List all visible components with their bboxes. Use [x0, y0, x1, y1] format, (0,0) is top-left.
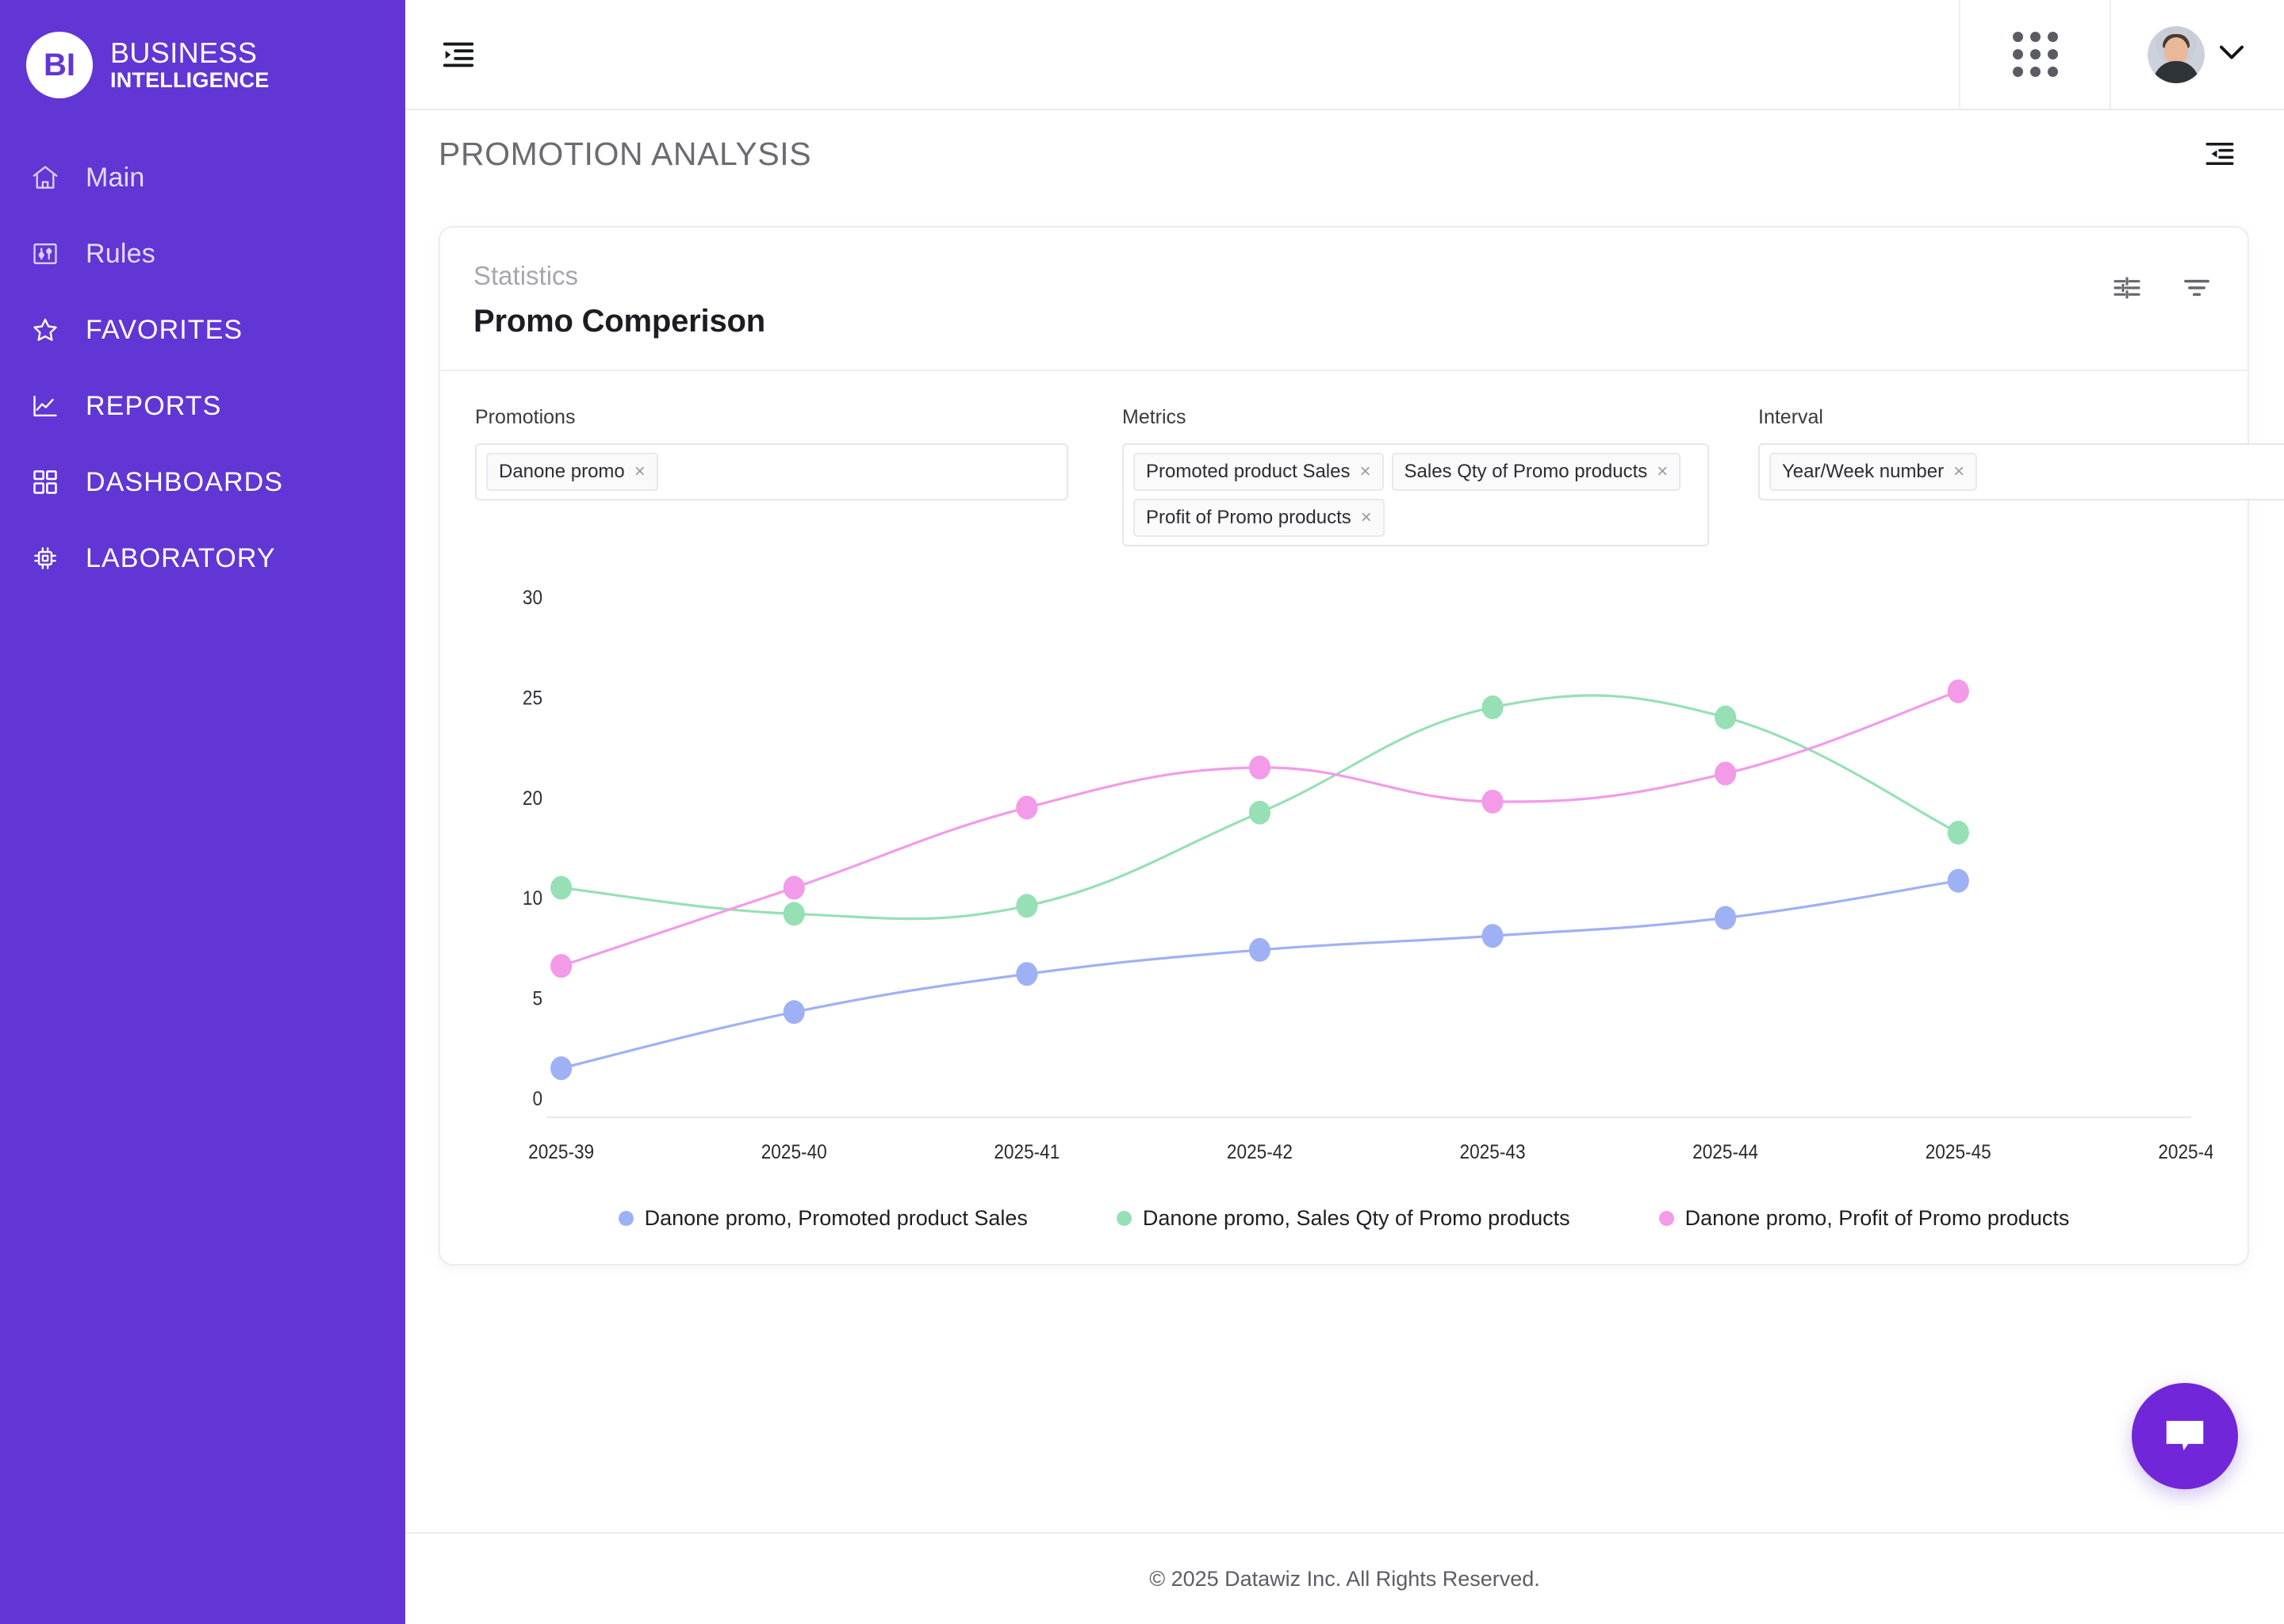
x-axis-tick: 2025-45 — [1926, 1141, 1991, 1163]
copyright-text: © 2025 Datawiz Inc. All Rights Reserved. — [1149, 1567, 1540, 1591]
page-header: PROMOTION ANALYSIS — [405, 110, 2284, 197]
sidebar-item-label: REPORTS — [86, 391, 221, 422]
legend-item[interactable]: Danone promo, Sales Qty of Promo product… — [1117, 1206, 1570, 1231]
sidebar-item-label: LABORATORY — [86, 543, 276, 574]
data-point[interactable] — [1715, 761, 1736, 785]
chip-label: Danone promo — [499, 461, 625, 483]
metrics-input[interactable]: Promoted product Sales × Sales Qty of Pr… — [1122, 443, 1709, 546]
card-header: Statistics Promo Comperison — [440, 228, 2248, 339]
filter-row: Promotions Danone promo × Metrics — [440, 371, 2248, 546]
chart-legend: Danone promo, Promoted product Sales Dan… — [475, 1206, 2213, 1231]
filter-label: Promotions — [475, 406, 1068, 429]
legend-item[interactable]: Danone promo, Profit of Promo products — [1659, 1206, 2070, 1231]
data-point[interactable] — [1481, 790, 1503, 814]
y-axis-tick: 25 — [523, 687, 542, 709]
data-point[interactable] — [1249, 938, 1270, 962]
chip[interactable]: Profit of Promo products × — [1133, 499, 1385, 537]
sidebar-item-rules[interactable]: Rules — [0, 216, 405, 292]
data-point[interactable] — [784, 902, 805, 925]
data-point[interactable] — [1016, 962, 1037, 986]
data-point[interactable] — [550, 1056, 572, 1080]
series-line — [561, 691, 1959, 966]
promotions-input[interactable]: Danone promo × — [475, 443, 1068, 500]
data-point[interactable] — [1249, 756, 1270, 779]
sidebar-nav: Main Rules FAVORITES REPORTS — [0, 140, 405, 596]
sidebar-item-favorites[interactable]: FAVORITES — [0, 292, 405, 368]
chat-bubble-glyph — [2160, 1411, 2209, 1461]
data-point[interactable] — [1948, 821, 1969, 845]
card-title: Promo Comperison — [473, 304, 765, 339]
brand-badge: BI — [26, 32, 93, 98]
chip[interactable]: Sales Qty of Promo products × — [1392, 453, 1681, 491]
chart-container: 05102025302025-392025-402025-412025-4220… — [440, 546, 2248, 1231]
close-icon[interactable]: × — [1953, 462, 1964, 481]
line-chart[interactable]: 05102025302025-392025-402025-412025-4220… — [475, 583, 2213, 1185]
sidebar: BI BUSINESS INTELLIGENCE Main Rules — [0, 0, 405, 1624]
sidebar-item-laboratory[interactable]: LABORATORY — [0, 520, 405, 596]
close-icon[interactable]: × — [1361, 508, 1372, 527]
data-point[interactable] — [1249, 801, 1270, 825]
sidebar-item-main[interactable]: Main — [0, 140, 405, 216]
sidebar-item-label: FAVORITES — [86, 315, 243, 346]
app-root: BI BUSINESS INTELLIGENCE Main Rules — [0, 0, 2284, 1624]
data-point[interactable] — [1715, 906, 1736, 929]
statistics-card: Statistics Promo Comperison — [439, 226, 2249, 1266]
close-icon[interactable]: × — [1359, 462, 1370, 481]
main-area: PROMOTION ANALYSIS Statistics Promo Comp… — [405, 0, 2284, 1624]
data-point[interactable] — [1715, 706, 1736, 730]
sidebar-item-label: DASHBOARDS — [86, 467, 283, 498]
card-subtitle: Statistics — [473, 261, 765, 291]
data-point[interactable] — [784, 1000, 805, 1024]
content-spacer — [405, 1399, 2284, 1532]
apps-grid-button[interactable] — [1960, 0, 2111, 109]
filter-interval: Interval Year/Week number × — [1758, 406, 2284, 546]
y-axis-tick: 10 — [523, 887, 542, 910]
chip[interactable]: Danone promo × — [486, 453, 658, 491]
legend-label: Danone promo, Sales Qty of Promo product… — [1143, 1206, 1570, 1231]
data-point[interactable] — [1481, 695, 1503, 719]
data-point[interactable] — [1948, 680, 1969, 703]
chart-svg[interactable]: 05102025302025-392025-402025-412025-4220… — [475, 583, 2213, 1185]
chip-label: Profit of Promo products — [1146, 507, 1351, 529]
page-footer: © 2025 Datawiz Inc. All Rights Reserved. — [405, 1532, 2284, 1624]
data-point[interactable] — [784, 876, 805, 900]
x-axis-tick: 2025-40 — [761, 1141, 827, 1163]
card-toolbar — [2111, 261, 2213, 304]
chip-icon — [29, 542, 62, 575]
x-axis-tick: 2025-46 — [2158, 1141, 2213, 1163]
list-toggle-icon[interactable] — [2203, 137, 2236, 170]
legend-color-swatch — [1659, 1211, 1674, 1226]
legend-color-swatch — [1117, 1211, 1132, 1226]
data-point[interactable] — [1481, 924, 1503, 948]
tune-settings-icon[interactable] — [2111, 272, 2143, 304]
data-point[interactable] — [1016, 795, 1037, 819]
chat-bubble-icon[interactable] — [2132, 1383, 2238, 1489]
data-point[interactable] — [1016, 894, 1037, 917]
close-icon[interactable]: × — [634, 462, 646, 481]
card-titles: Statistics Promo Comperison — [473, 261, 765, 339]
chip-label: Sales Qty of Promo products — [1405, 461, 1648, 483]
topbar-left — [405, 0, 1960, 109]
y-axis-tick: 5 — [533, 988, 543, 1010]
star-icon — [29, 313, 62, 347]
sidebar-collapse-icon[interactable] — [440, 36, 477, 73]
legend-color-swatch — [619, 1211, 634, 1226]
y-axis-tick: 0 — [533, 1088, 543, 1110]
brand-line-2: INTELLIGENCE — [110, 70, 269, 91]
brand-line-1: BUSINESS — [110, 39, 269, 67]
brand-logo[interactable]: BI BUSINESS INTELLIGENCE — [0, 0, 405, 98]
chevron-down-icon — [2216, 42, 2248, 67]
x-axis-tick: 2025-43 — [1460, 1141, 1526, 1163]
chip-label: Year/Week number — [1782, 461, 1944, 483]
data-point[interactable] — [550, 876, 572, 900]
filter-label: Interval — [1758, 406, 2284, 429]
sidebar-item-label: Main — [86, 163, 145, 193]
legend-item[interactable]: Danone promo, Promoted product Sales — [619, 1206, 1028, 1231]
user-menu-button[interactable] — [2111, 0, 2284, 109]
x-axis-tick: 2025-42 — [1227, 1141, 1293, 1163]
filter-icon[interactable] — [2181, 272, 2213, 304]
sliders-icon — [29, 237, 62, 270]
chart-line-icon — [29, 389, 62, 423]
y-axis-tick: 30 — [523, 587, 542, 609]
series-line — [561, 881, 1959, 1068]
sidebar-item-label: Rules — [86, 239, 155, 270]
filter-label: Metrics — [1122, 406, 1709, 429]
legend-label: Danone promo, Profit of Promo products — [1685, 1206, 2070, 1231]
x-axis-tick: 2025-41 — [994, 1141, 1060, 1163]
topbar — [405, 0, 2284, 110]
data-point[interactable] — [1948, 869, 1969, 893]
chip-label: Promoted product Sales — [1146, 461, 1350, 483]
y-axis-tick: 20 — [523, 787, 542, 810]
sidebar-item-dashboards[interactable]: DASHBOARDS — [0, 444, 405, 520]
filter-metrics: Metrics Promoted product Sales × Sales Q… — [1122, 406, 1709, 546]
sidebar-item-reports[interactable]: REPORTS — [0, 368, 405, 444]
chip[interactable]: Year/Week number × — [1769, 453, 1977, 491]
x-axis-tick: 2025-44 — [1692, 1141, 1758, 1163]
chip[interactable]: Promoted product Sales × — [1133, 453, 1384, 491]
content-area: Statistics Promo Comperison — [405, 197, 2284, 1399]
filter-promotions: Promotions Danone promo × — [475, 406, 1068, 546]
data-point[interactable] — [550, 954, 572, 978]
grid-icon — [29, 465, 62, 499]
interval-input[interactable]: Year/Week number × — [1758, 443, 2284, 500]
home-icon — [29, 161, 62, 194]
x-axis-tick: 2025-39 — [528, 1141, 594, 1163]
page-title: PROMOTION ANALYSIS — [439, 136, 811, 173]
legend-label: Danone promo, Promoted product Sales — [645, 1206, 1028, 1231]
apps-grid-icon — [2013, 32, 2058, 77]
brand-text: BUSINESS INTELLIGENCE — [110, 39, 269, 91]
close-icon[interactable]: × — [1657, 462, 1668, 481]
avatar — [2148, 26, 2205, 83]
